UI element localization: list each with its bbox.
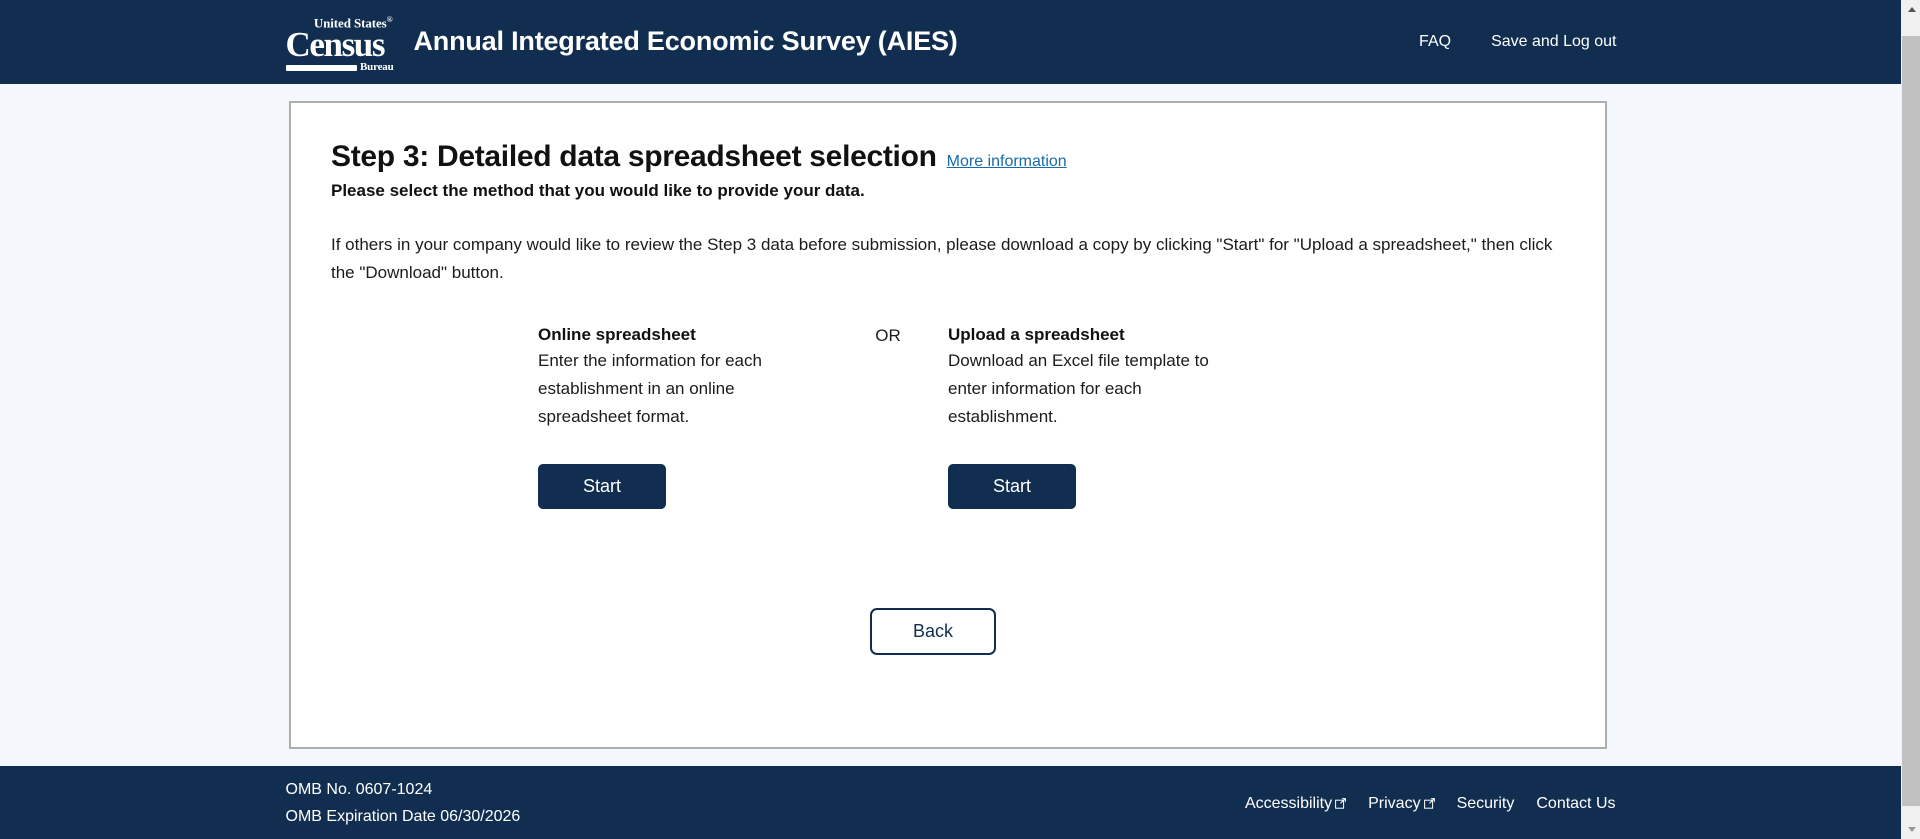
scroll-down-button[interactable] bbox=[1902, 820, 1920, 839]
start-online-spreadsheet-button[interactable]: Start bbox=[538, 464, 666, 509]
accessibility-link[interactable]: Accessibility bbox=[1245, 795, 1346, 813]
heading-row: Step 3: Detailed data spreadsheet select… bbox=[331, 139, 1565, 175]
census-bureau-logo: United States® Census Bureau bbox=[286, 13, 394, 73]
option-upload-spreadsheet: Upload a spreadsheet Download an Excel f… bbox=[948, 325, 1238, 509]
step-title: Step 3: Detailed data spreadsheet select… bbox=[331, 139, 937, 175]
logo-trademark: ® bbox=[387, 15, 393, 24]
omb-expiration-date: OMB Expiration Date 06/30/2026 bbox=[286, 803, 521, 830]
security-link[interactable]: Security bbox=[1457, 795, 1515, 813]
header-nav: FAQ Save and Log out bbox=[1419, 33, 1620, 51]
more-information-link[interactable]: More information bbox=[947, 153, 1067, 171]
option-description: Enter the information for each establish… bbox=[538, 347, 818, 431]
options-row: Online spreadsheet Enter the information… bbox=[331, 325, 1565, 509]
footer-links: Accessibility Privacy bbox=[1245, 793, 1616, 813]
site-footer: OMB No. 0607-1024 OMB Expiration Date 06… bbox=[0, 766, 1901, 839]
faq-link[interactable]: FAQ bbox=[1419, 33, 1451, 51]
chevron-down-icon bbox=[1908, 827, 1916, 832]
intro-paragraph: If others in your company would like to … bbox=[331, 231, 1561, 287]
header-inner: United States® Census Bureau Annual Inte… bbox=[281, 12, 1621, 72]
start-upload-spreadsheet-button[interactable]: Start bbox=[948, 464, 1076, 509]
page-viewport: United States® Census Bureau Annual Inte… bbox=[0, 0, 1901, 839]
content-card: Step 3: Detailed data spreadsheet select… bbox=[289, 101, 1607, 749]
or-divider-label: OR bbox=[828, 325, 948, 346]
option-description: Download an Excel file template to enter… bbox=[948, 347, 1228, 431]
omb-number: OMB No. 0607-1024 bbox=[286, 776, 521, 803]
privacy-link-label: Privacy bbox=[1368, 795, 1420, 813]
option-title: Online spreadsheet bbox=[538, 325, 828, 345]
main-content: Step 3: Detailed data spreadsheet select… bbox=[0, 84, 1901, 749]
option-online-spreadsheet: Online spreadsheet Enter the information… bbox=[538, 325, 828, 509]
save-and-log-out-link[interactable]: Save and Log out bbox=[1491, 33, 1616, 51]
page-title: Annual Integrated Economic Survey (AIES) bbox=[414, 26, 958, 57]
scroll-up-button[interactable] bbox=[1902, 0, 1920, 19]
vertical-scrollbar[interactable] bbox=[1901, 0, 1920, 839]
accessibility-link-label: Accessibility bbox=[1245, 795, 1332, 813]
external-link-icon bbox=[1335, 798, 1346, 809]
logo-bureau-text: Bureau bbox=[360, 62, 393, 73]
privacy-link[interactable]: Privacy bbox=[1368, 795, 1434, 813]
contact-us-link[interactable]: Contact Us bbox=[1536, 795, 1615, 813]
logo-bar-divider bbox=[286, 65, 358, 71]
footer-inner: OMB No. 0607-1024 OMB Expiration Date 06… bbox=[281, 766, 1621, 839]
external-link-icon bbox=[1424, 798, 1435, 809]
site-header: United States® Census Bureau Annual Inte… bbox=[0, 0, 1901, 84]
omb-info-block: OMB No. 0607-1024 OMB Expiration Date 06… bbox=[286, 776, 521, 830]
select-method-instruction: Please select the method that you would … bbox=[331, 181, 1565, 201]
logo-census-text: Census bbox=[286, 28, 394, 61]
option-title: Upload a spreadsheet bbox=[948, 325, 1238, 345]
back-row: Back bbox=[331, 608, 1565, 655]
back-button[interactable]: Back bbox=[870, 608, 996, 655]
scrollbar-thumb[interactable] bbox=[1902, 36, 1920, 806]
chevron-up-icon bbox=[1908, 7, 1916, 12]
